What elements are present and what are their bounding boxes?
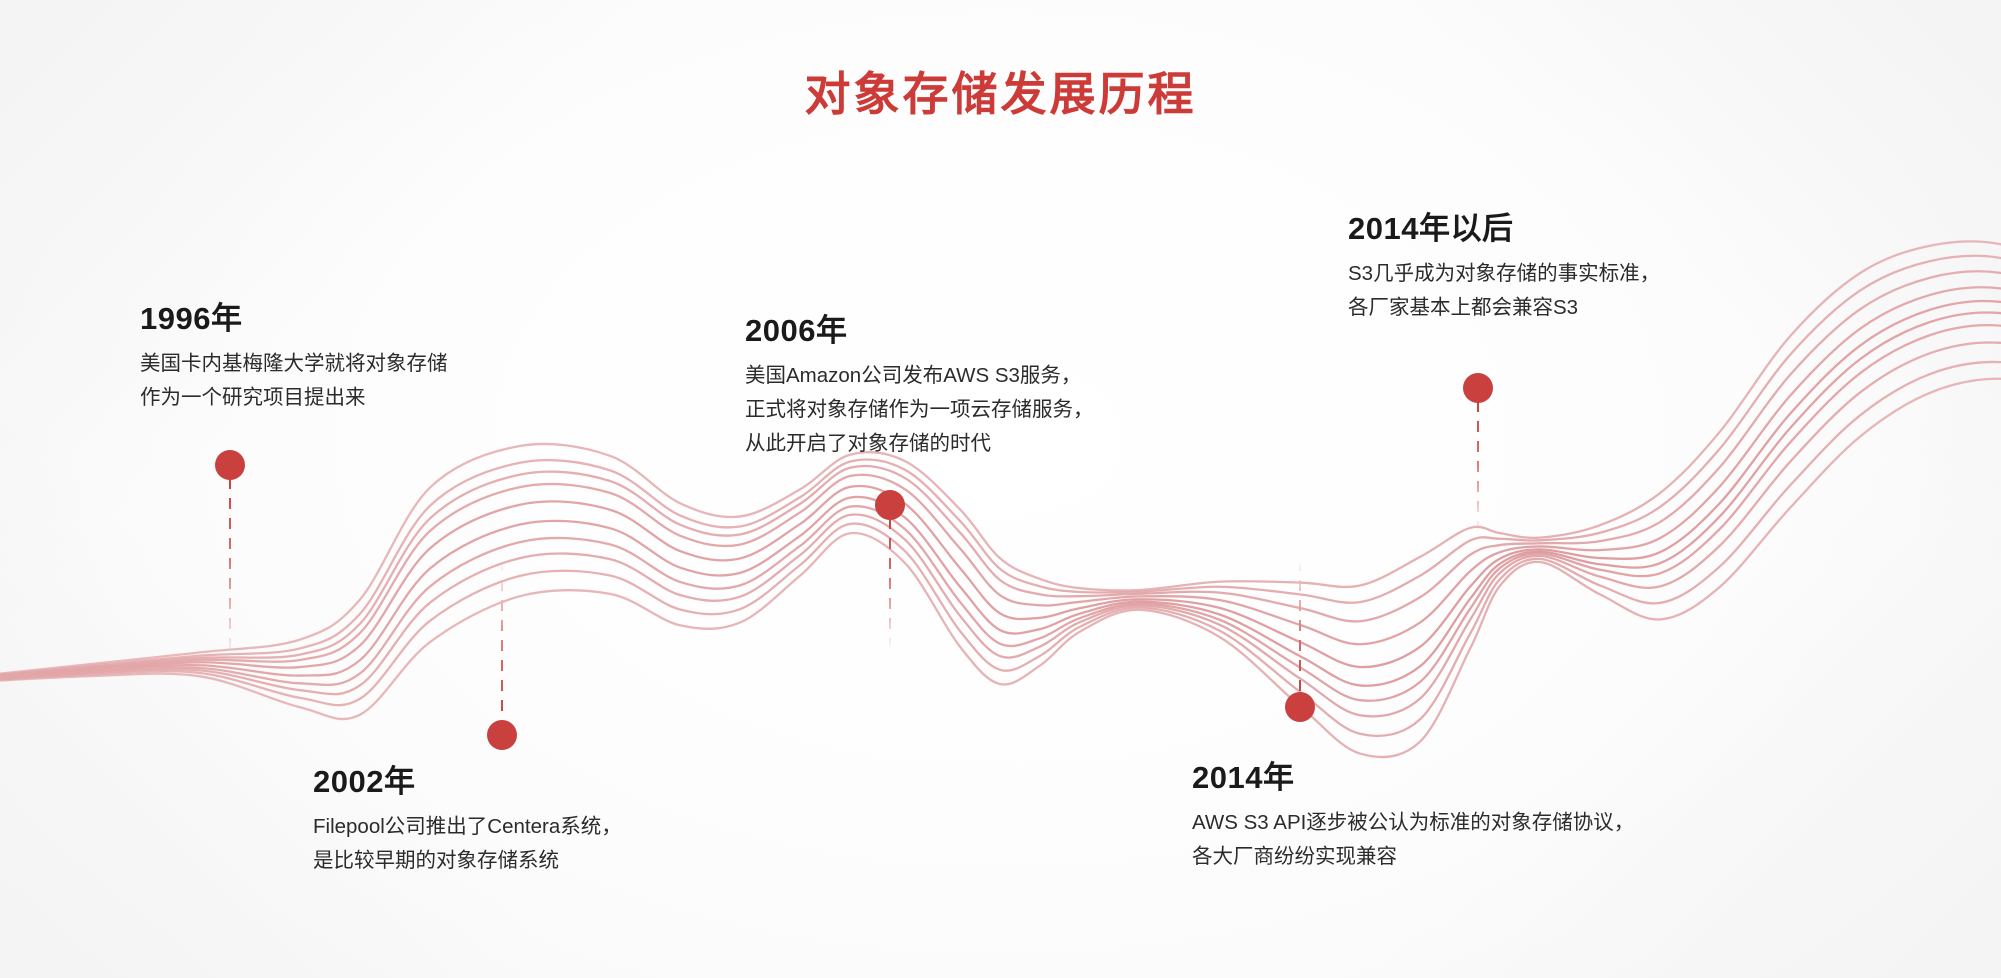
timeline-dot-2014after[interactable] [1463,373,1493,403]
timeline-text-1996-line-1: 美国卡内基梅隆大学就将对象存储 [140,347,448,381]
timeline-entry-2014: 2014年 AWS S3 API逐步被公认为标准的对象存储协议， 各大厂商纷纷实… [1192,752,1634,874]
timeline-text-2014after-line-2: 各厂家基本上都会兼容S3 [1348,291,1660,325]
timeline-text-2006-line-3: 从此开启了对象存储的时代 [745,427,1094,461]
timeline-entry-1996: 1996年 美国卡内基梅隆大学就将对象存储 作为一个研究项目提出来 [140,293,448,415]
infographic-canvas: 对象存储发展历程 1996年 美国卡内基梅隆大学就将对象存储 作为一个研究项目提… [0,0,2001,978]
timeline-dot-2014[interactable] [1285,692,1315,722]
timeline-text-2014after-line-1: S3几乎成为对象存储的事实标准， [1348,257,1660,291]
timeline-dot-1996[interactable] [215,450,245,480]
timeline-stem-2014 [1299,560,1301,694]
timeline-year-2006: 2006年 [745,305,1094,350]
timeline-year-1996: 1996年 [140,293,448,338]
timeline-year-2014: 2014年 [1192,752,1634,797]
page-title: 对象存储发展历程 [0,58,2001,124]
timeline-dot-2002[interactable] [487,720,517,750]
timeline-text-2006-line-2: 正式将对象存储作为一项云存储服务， [745,393,1094,427]
timeline-stem-2006 [889,518,891,650]
timeline-text-2002-line-2: 是比较早期的对象存储系统 [313,844,622,878]
timeline-stem-2002 [501,560,503,722]
timeline-text-2014-line-1: AWS S3 API逐步被公认为标准的对象存储协议， [1192,806,1634,840]
background-gradient [0,0,2001,978]
timeline-entry-2006: 2006年 美国Amazon公司发布AWS S3服务， 正式将对象存储作为一项云… [745,305,1094,461]
timeline-stem-1996 [229,478,231,660]
timeline-text-1996-line-2: 作为一个研究项目提出来 [140,381,448,415]
timeline-year-2014after: 2014年以后 [1348,203,1660,248]
timeline-text-2006-line-1: 美国Amazon公司发布AWS S3服务， [745,359,1094,393]
timeline-stem-2014after [1477,401,1479,533]
timeline-year-2002: 2002年 [313,756,622,801]
timeline-text-2014-line-2: 各大厂商纷纷实现兼容 [1192,840,1634,874]
timeline-text-2002-line-1: Filepool公司推出了Centera系统， [313,810,622,844]
timeline-entry-2002: 2002年 Filepool公司推出了Centera系统， 是比较早期的对象存储… [313,756,622,878]
timeline-dot-2006[interactable] [875,490,905,520]
wave-graphic [0,0,2001,978]
timeline-entry-2014after: 2014年以后 S3几乎成为对象存储的事实标准， 各厂家基本上都会兼容S3 [1348,203,1660,325]
